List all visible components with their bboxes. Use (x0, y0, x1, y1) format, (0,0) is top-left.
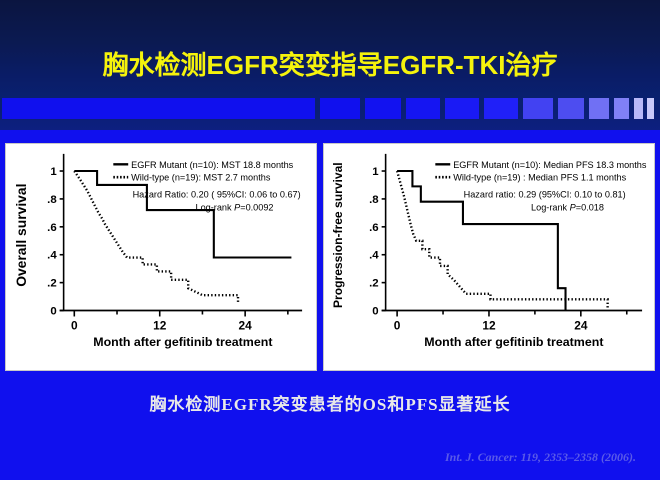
series-mutant (74, 171, 291, 257)
x-tick-label: 0 (394, 318, 401, 332)
y-tick-label: .2 (47, 278, 57, 290)
x-tick-label: 12 (153, 318, 167, 332)
y-tick-label: 0 (372, 306, 378, 318)
y-tick-label: .8 (47, 194, 57, 206)
decorative-block-9 (614, 98, 629, 119)
annotation-text: Hazard ratio: 0.29 (95%CI: 0.10 to 0.81) (464, 190, 626, 200)
decorative-block-1 (320, 98, 360, 119)
y-tick-label: 1 (50, 166, 57, 178)
chart-progression-free-survival: 0.2.4.6.8101224Month after gefitinib tre… (324, 144, 654, 370)
y-axis-label: Progression-free survival (331, 162, 345, 308)
decorative-block-2 (365, 98, 401, 119)
decorative-block-5 (484, 98, 518, 119)
slide-caption: 胸水检测EGFR突变患者的OS和PFS显著延长 (0, 390, 660, 415)
decorative-block-6 (523, 98, 553, 119)
annotation-text: Log-rank P=0.018 (531, 202, 604, 212)
legend-label: Wild-type (n=19) : Median PFS 1.1 months (453, 173, 626, 183)
x-tick-label: 24 (239, 318, 253, 332)
annotation-text: Log-rank P=0.0092 (196, 202, 274, 212)
decorative-block-8 (589, 98, 609, 119)
chart-overall-survival: 0.2.4.6.8101224Month after gefitinib tre… (6, 144, 316, 370)
y-tick-label: 1 (372, 166, 379, 178)
y-tick-label: .4 (47, 250, 57, 262)
slide-root: 胸水检测EGFR突变指导EGFR-TKI治疗 0.2.4.6.8101224Mo… (0, 0, 660, 480)
y-tick-label: .6 (369, 222, 379, 234)
decorative-block-7 (558, 98, 584, 119)
y-tick-label: 0 (50, 306, 56, 318)
x-tick-label: 12 (482, 318, 496, 332)
page-title: 胸水检测EGFR突变指导EGFR-TKI治疗 (0, 48, 660, 82)
decorative-block-0 (2, 98, 315, 119)
y-axis-label: Overall survival (13, 184, 29, 287)
decorative-block-3 (406, 98, 440, 119)
y-tick-label: .2 (369, 278, 379, 290)
y-tick-label: .6 (47, 222, 57, 234)
chart-panel-overall-survival: 0.2.4.6.8101224Month after gefitinib tre… (5, 143, 317, 371)
legend-label: EGFR Mutant (n=10): MST 18.8 months (131, 160, 293, 170)
x-tick-label: 0 (71, 318, 78, 332)
x-axis-label: Month after gefitinib treatment (424, 335, 603, 349)
decorative-block-11 (647, 98, 654, 119)
x-tick-label: 24 (574, 318, 588, 332)
decorative-block-row (0, 96, 660, 130)
y-tick-label: .8 (369, 194, 379, 206)
decorative-block-10 (634, 98, 643, 119)
source-citation: Int. J. Cancer: 119, 2353–2358 (2006). (445, 450, 636, 465)
legend-label: Wild-type (n=19): MST 2.7 months (131, 173, 271, 183)
legend-label: EGFR Mutant (n=10): Median PFS 18.3 mont… (453, 160, 647, 170)
chart-panel-progression-free-survival: 0.2.4.6.8101224Month after gefitinib tre… (323, 143, 655, 371)
y-tick-label: .4 (369, 250, 379, 262)
x-axis-label: Month after gefitinib treatment (93, 335, 272, 349)
decorative-block-4 (445, 98, 479, 119)
annotation-text: Hazard Ratio: 0.20 ( 95%CI: 0.06 to 0.67… (133, 190, 301, 200)
